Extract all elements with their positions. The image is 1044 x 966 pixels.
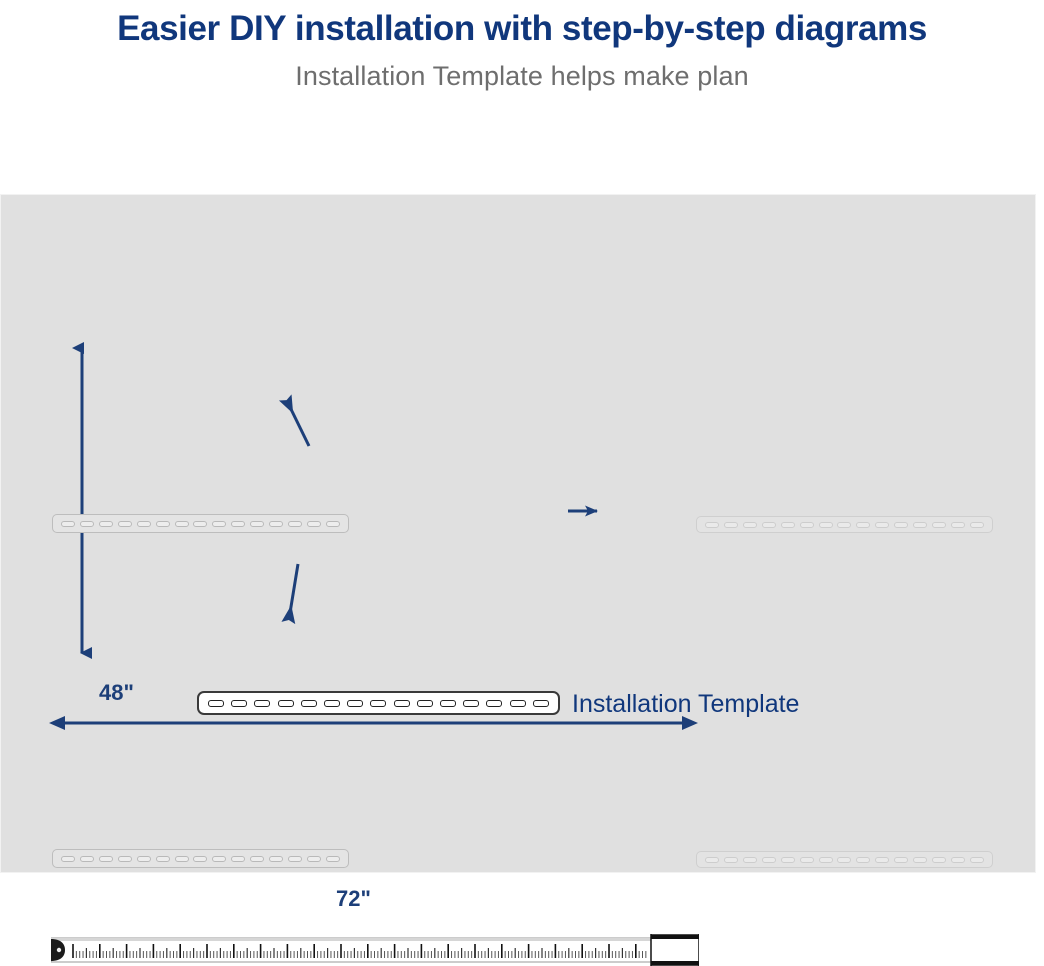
rail-slot [913,522,927,528]
rail-slot [932,857,946,863]
dimension-label-horizontal: 72" [336,886,371,912]
rail-slot [137,856,151,862]
rail-slot [743,857,757,863]
rail-slot [193,521,207,527]
diagram-annotations [1,195,1037,874]
template-slot [510,700,526,707]
rail-slot [326,521,340,527]
installation-template-label: Installation Template [572,689,799,719]
template-slot [254,700,270,707]
rail-slot [819,522,833,528]
rail-slot [781,522,795,528]
rail-slot [269,521,283,527]
rail-slot [762,857,776,863]
template-slot [324,700,340,707]
rail-slot [288,856,302,862]
mounting-rail-bottom-right [696,851,993,868]
rail-slot [932,522,946,528]
rail-slot [743,522,757,528]
rail-slot [970,857,984,863]
rail-slot [705,522,719,528]
dimension-label-vertical: 48" [99,680,134,706]
rail-slot [80,521,94,527]
rail-slot [913,857,927,863]
rail-slot [724,522,738,528]
rail-slot [175,521,189,527]
template-slot [370,700,386,707]
rail-slot [875,857,889,863]
template-slot [301,700,317,707]
rail-slot [837,522,851,528]
rail-slot [212,856,226,862]
rail-slot [175,856,189,862]
rail-slot [99,521,113,527]
rail-slot [288,521,302,527]
rail-slot [856,522,870,528]
template-slot [394,700,410,707]
rail-slot [118,521,132,527]
rail-slot [61,521,75,527]
page-subtitle: Installation Template helps make plan [0,54,1044,98]
rail-slot [705,857,719,863]
template-slot [417,700,433,707]
rail-slot [781,857,795,863]
mounting-rail-top-left [52,514,349,533]
rail-slot [837,857,851,863]
rail-slot [137,521,151,527]
rail-slot [307,856,321,862]
rail-slot [250,521,264,527]
page-title: Easier DIY installation with step-by-ste… [0,4,1044,54]
rail-slot [951,857,965,863]
template-slot [347,700,363,707]
rail-slot [762,522,776,528]
template-slot [463,700,479,707]
rail-slot [231,521,245,527]
rail-slot [250,856,264,862]
template-slot [533,700,549,707]
rail-slot [800,522,814,528]
rail-slot [99,856,113,862]
diagram-panel: Installation Template 48" 72" [0,194,1036,873]
template-slot [231,700,247,707]
rail-slot [118,856,132,862]
rail-slot [307,521,321,527]
installation-template-callout: Installation Template [566,689,799,719]
rail-slot [819,857,833,863]
rail-slot [269,856,283,862]
installation-template-rail [197,691,560,715]
rail-slot [724,857,738,863]
rail-slot [800,857,814,863]
rail-slot [212,521,226,527]
rail-slot [875,522,889,528]
template-slot [278,700,294,707]
template-slot [440,700,456,707]
rail-slot [970,522,984,528]
rail-slot [894,522,908,528]
rail-slot [61,856,75,862]
rail-slot [326,856,340,862]
rail-slot [156,521,170,527]
rail-slot [231,856,245,862]
rail-slot [156,856,170,862]
pointer-arrow-down-left [289,564,298,619]
template-slot [208,700,224,707]
rail-slot [193,856,207,862]
rail-slot [856,857,870,863]
template-slot [486,700,502,707]
rail-slot [80,856,94,862]
rail-slot [951,522,965,528]
mounting-rail-top-right [696,516,993,533]
header: Easier DIY installation with step-by-ste… [0,0,1044,98]
pointer-arrow-up-left [287,401,309,446]
rail-slot [894,857,908,863]
mounting-rail-bottom-left [52,849,349,868]
tape-measure [51,934,699,966]
